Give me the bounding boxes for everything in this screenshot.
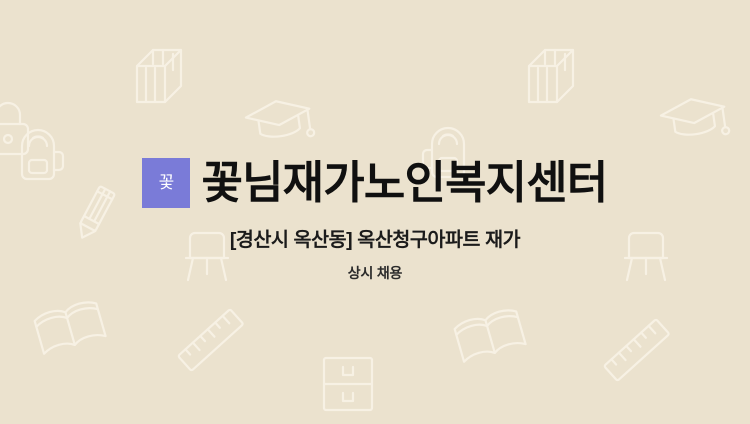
flower-logo-badge-label: 꽃	[159, 174, 175, 191]
recruitment-status-text: 상시 채용	[348, 265, 402, 282]
title-row: 꽃 꽃님재가노인복지센터	[142, 158, 607, 208]
job-posting-banner: 꽃 꽃님재가노인복지센터 [경산시 옥산동] 옥산청구아파트 재가 상시 채용	[0, 0, 750, 424]
job-location-subtitle: [경산시 옥산동] 옥산청구아파트 재가	[230, 229, 520, 252]
banner-content: 꽃 꽃님재가노인복지센터 [경산시 옥산동] 옥산청구아파트 재가 상시 채용	[0, 0, 750, 424]
flower-logo-badge: 꽃	[142, 158, 190, 208]
organization-title: 꽃님재가노인복지센터	[201, 160, 607, 205]
